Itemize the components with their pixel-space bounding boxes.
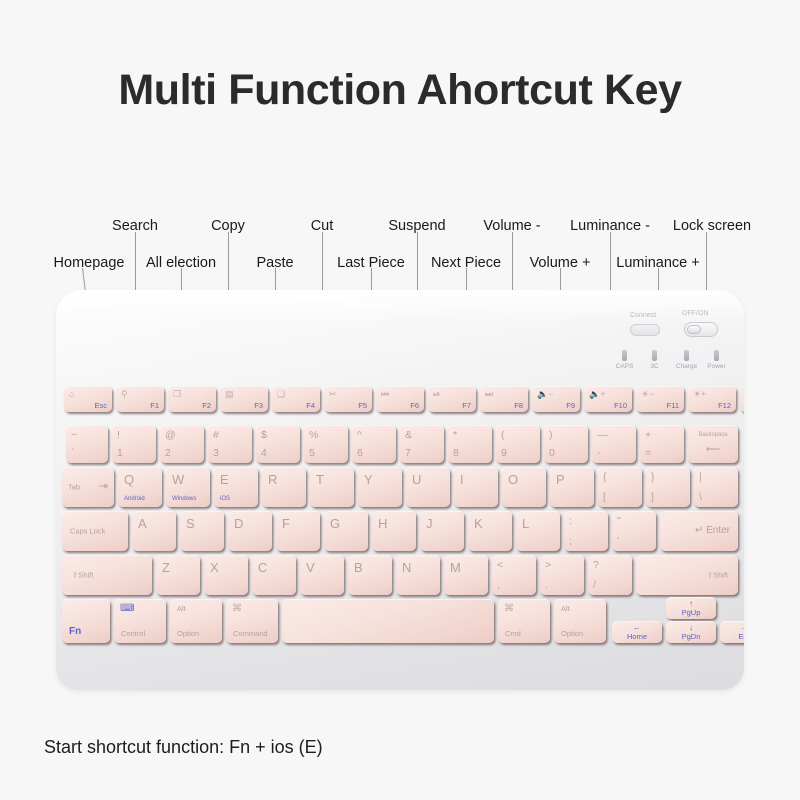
key-sublabel: Android [124,496,145,502]
key-shift-glyph: & [405,430,412,441]
status-led-label: Charge [676,363,697,370]
key-key-r[interactable]: R [262,467,306,507]
key-key-a[interactable]: A [132,511,176,551]
annotation-label: Homepage [54,255,125,271]
command-icon: ⌘ [504,604,514,614]
volume-down-icon: 🔈− [537,390,553,399]
key-command-l[interactable]: ⌘Command [226,599,278,643]
key-shift-glyph: | [699,472,702,483]
brightness-up-icon: ☀+ [693,390,706,399]
key-shift-glyph: * [453,430,457,441]
key-base-glyph: 0 [549,448,555,459]
key-letter: L [522,517,529,530]
key-shift-glyph: + [645,430,651,441]
key-key-j[interactable]: J [420,511,464,551]
key-alt-label: Alt [561,605,570,613]
key-alt-option-l[interactable]: AltOption [170,599,222,643]
search-icon: ⚲ [121,390,128,399]
key-base-glyph: , [497,580,500,591]
backspace-arrow-icon: ⟵ [688,445,738,455]
key-esc[interactable]: ⌂Esc [64,386,112,412]
key-letter: S [186,517,195,530]
key-period[interactable]: >. [540,555,584,595]
key-label: Backspace [688,432,738,438]
key-caps-lock[interactable]: Caps Lock [62,511,128,551]
key-key-k[interactable]: K [468,511,512,551]
key-letter: O [508,473,518,486]
play-pause-icon: ⏯ [433,390,440,399]
key-key-i[interactable]: I [454,467,498,507]
key-base-glyph: 9 [501,448,507,459]
key-key-t[interactable]: T [310,467,354,507]
key-arrow-pgdn[interactable]: ↓PgDn [666,621,716,643]
key-shift-glyph: } [651,472,655,483]
key-sublabel: iOS [220,496,230,502]
key-letter: V [306,561,315,574]
key-label: Option [561,630,583,638]
key-letter: T [316,473,324,486]
status-led [652,350,657,361]
key-alt-option-r[interactable]: AltOption [554,599,606,643]
key-backtick[interactable]: ~` [66,425,108,463]
key-shift-glyph: : [569,516,572,527]
key-letter: Q [124,473,134,486]
key-letter: D [234,517,243,530]
key-base-glyph: . [545,580,548,591]
key-digit-7[interactable]: &7 [400,425,444,463]
key-letter: U [412,473,421,486]
key-key-m[interactable]: M [444,555,488,595]
key-label: Fn [69,627,81,637]
key-key-c[interactable]: C [252,555,296,595]
key-key-s[interactable]: S [180,511,224,551]
key-letter: C [258,561,267,574]
key-tab[interactable]: Tab⇥ [62,467,114,507]
key-digit-6[interactable]: ^6 [352,425,396,463]
key-enter[interactable]: ↵ Enter [660,511,738,551]
key-f3[interactable]: ▤F3 [220,386,268,412]
key-letter: W [172,473,184,486]
key-key-v[interactable]: V [300,555,344,595]
connect-button[interactable] [630,324,660,336]
key-base-glyph: / [593,580,596,591]
key-base-glyph: 1 [117,448,123,459]
key-letter: E [220,473,229,486]
key-digit-0[interactable]: )0 [544,425,588,463]
status-led-label: CAPS [616,363,634,370]
command-icon: ⌘ [232,604,242,614]
key-key-g[interactable]: G [324,511,368,551]
key-shift-glyph: ? [593,560,599,571]
key-shift-glyph: ) [549,430,553,441]
status-led [622,350,627,361]
key-fn-label: F8 [514,402,523,410]
key-digit-5[interactable]: %5 [304,425,348,463]
brightness-down-icon: ☀− [641,390,654,399]
tab-arrow-icon: ⇥ [99,482,108,493]
key-semicolon[interactable]: :; [564,511,608,551]
key-fn-label: F10 [614,402,627,410]
key-label: Command [233,630,268,638]
key-key-y[interactable]: Y [358,467,402,507]
volume-up-icon: 🔈+ [589,390,605,399]
scissors-icon: ✂ [329,390,337,399]
arrow-pgdn-arrow-icon: ↓ [666,624,716,632]
key-base-glyph: - [597,448,601,459]
key-key-x[interactable]: X [204,555,248,595]
key-f9[interactable]: 🔈−F9 [532,386,580,412]
key-control[interactable]: ⌨Control [114,599,166,643]
key-fn-label: Delete [740,402,744,410]
key-f7[interactable]: ⏯F7 [428,386,476,412]
key-base-glyph: 3 [213,448,219,459]
key-base-glyph: 6 [357,448,363,459]
key-fn-label: F5 [358,402,367,410]
status-led-label: 3C [650,363,658,370]
status-led-label: Power [707,363,725,370]
key-letter: X [210,561,219,574]
home-icon: ⌂ [69,390,74,399]
key-shift-glyph: — [597,430,608,441]
arrow-end-arrow-icon: → [720,624,744,632]
onoff-label: OFF/ON [682,310,708,317]
key-key-h[interactable]: H [372,511,416,551]
connect-label: Connect [630,312,656,319]
key-letter: J [426,517,433,530]
key-bracket-r[interactable]: }] [646,467,690,507]
key-fn-label: Esc [94,402,107,410]
key-fn-label: F12 [718,402,731,410]
key-f6[interactable]: ⏮F6 [376,386,424,412]
key-shift-glyph: { [603,472,607,483]
key-label: Tab [68,483,80,491]
key-letter: Y [364,473,373,486]
page-title: Multi Function Ahortcut Key [0,66,800,115]
key-f4[interactable]: ❑F4 [272,386,320,412]
keyboard-body: Connect OFF/ON CAPS3CChargePower ⌂Esc⚲F1… [56,290,744,690]
key-label: Home [612,633,662,641]
key-alt-label: Alt [177,605,186,613]
key-letter: N [402,561,411,574]
key-shift-glyph: ^ [357,430,362,441]
key-base-glyph: ' [617,536,619,547]
key-digit-1[interactable]: !1 [112,425,156,463]
key-label: End [720,633,744,641]
key-base-glyph: [ [603,492,606,503]
key-label: Control [121,630,145,638]
key-key-p[interactable]: P [550,467,594,507]
key-backspace[interactable]: Backspace⟵ [688,425,738,463]
power-switch[interactable] [684,322,718,337]
key-comma[interactable]: <, [492,555,536,595]
key-fn-label: F6 [410,402,419,410]
key-key-f[interactable]: F [276,511,320,551]
key-letter: A [138,517,147,530]
key-digit-3[interactable]: #3 [208,425,252,463]
key-base-glyph: ; [569,536,572,547]
key-base-glyph: 2 [165,448,171,459]
key-digit-2[interactable]: @2 [160,425,204,463]
key-f2[interactable]: ❐F2 [168,386,216,412]
lock-icon: 🔒 [740,390,744,399]
key-shift-glyph: < [497,560,503,571]
top-controls: Connect OFF/ON CAPS3CChargePower [612,304,732,380]
copy-icon: ❐ [173,390,181,399]
key-key-b[interactable]: B [348,555,392,595]
key-shift-glyph: " [617,516,621,527]
arrow-pgup-arrow-icon: ↑ [666,600,716,608]
key-shift-left[interactable]: ⇧Shift [62,555,152,595]
annotation-label: Lock screen [673,218,751,234]
key-fn[interactable]: Fn [62,599,110,643]
key-sublabel: Windows [172,496,196,502]
key-base-glyph: ` [71,448,75,459]
key-base-glyph: ] [651,492,654,503]
switch-knob [687,325,701,334]
key-base-glyph: \ [699,492,702,503]
key-f10[interactable]: 🔈+F10 [584,386,632,412]
key-key-u[interactable]: U [406,467,450,507]
key-letter: K [474,517,483,530]
key-fn-label: F4 [306,402,315,410]
key-minus[interactable]: —- [592,425,636,463]
key-key-o[interactable]: O [502,467,546,507]
key-fn-label: F11 [667,402,679,410]
key-key-e[interactable]: EiOS [214,467,258,507]
key-arrow-home[interactable]: ←Home [612,621,662,643]
next-track-icon: ⏭ [485,390,493,399]
key-letter: R [268,473,277,486]
key-command-r[interactable]: ⌘Cmd [498,599,550,643]
paste-icon: ▤ [225,390,234,399]
select-all-icon: ❑ [277,390,285,399]
key-fn-label: F9 [566,402,575,410]
page-caption: Start shortcut function: Fn + ios (E) [44,737,323,758]
key-shift-glyph: > [545,560,551,571]
key-base-glyph: 5 [309,448,315,459]
status-led [714,350,719,361]
key-letter: I [460,473,464,486]
key-f8[interactable]: ⏭F8 [480,386,528,412]
key-letter: H [378,517,387,530]
key-base-glyph: 4 [261,448,267,459]
key-base-glyph: = [645,448,651,459]
key-digit-4[interactable]: $4 [256,425,300,463]
key-label: ↵ Enter [695,526,730,536]
key-letter: M [450,561,461,574]
key-key-l[interactable]: L [516,511,560,551]
key-fn-label: F2 [202,402,211,410]
key-shift-right[interactable]: ⇧Shift [636,555,738,595]
key-shift-glyph: ! [117,430,120,441]
key-key-q[interactable]: QAndroid [118,467,162,507]
key-letter: B [354,561,363,574]
key-label: PgDn [666,633,716,641]
key-backslash[interactable]: |\ [694,467,738,507]
key-label: Caps Lock [70,527,105,535]
key-shift-glyph: @ [165,430,176,441]
key-f12[interactable]: ☀+F12 [688,386,736,412]
key-fn-label: F3 [254,402,263,410]
key-key-z[interactable]: Z [156,555,200,595]
key-shift-glyph: % [309,430,318,441]
key-fn-label: F7 [462,402,471,410]
key-quote[interactable]: "' [612,511,656,551]
key-space[interactable] [282,599,494,643]
key-label: PgUp [666,609,716,617]
key-shift-glyph: $ [261,430,267,441]
key-shift-glyph: ( [501,430,505,441]
key-bracket-l[interactable]: {[ [598,467,642,507]
key-f1[interactable]: ⚲F1 [116,386,164,412]
key-label: Option [177,630,199,638]
key-fn-label: F1 [150,402,159,410]
keyboard-icon: ⌨ [120,604,134,614]
key-key-w[interactable]: WWindows [166,467,210,507]
status-led [684,350,689,361]
key-label: ⇧Shift [72,571,93,579]
key-letter: P [556,473,565,486]
page-root: Multi Function Ahortcut Key SearchCopyCu… [0,0,800,800]
key-label: Cmd [505,630,521,638]
key-base-glyph: 8 [453,448,459,459]
key-slash[interactable]: ?/ [588,555,632,595]
key-digit-8[interactable]: *8 [448,425,492,463]
key-base-glyph: 7 [405,448,411,459]
key-letter: Z [162,561,170,574]
key-key-n[interactable]: N [396,555,440,595]
key-letter: G [330,517,340,530]
key-letter: F [282,517,290,530]
key-arrow-pgup[interactable]: ↑PgUp [666,597,716,619]
key-shift-glyph: ~ [71,430,77,441]
key-arrow-end[interactable]: →End [720,621,744,643]
key-equals[interactable]: += [640,425,684,463]
key-shift-glyph: # [213,430,219,441]
key-key-d[interactable]: D [228,511,272,551]
key-label: ⇧Shift [707,571,728,579]
prev-track-icon: ⏮ [381,390,389,399]
key-f11[interactable]: ☀−F11 [636,386,684,412]
key-digit-9[interactable]: (9 [496,425,540,463]
key-delete[interactable]: 🔒Delete [740,386,744,412]
key-f5[interactable]: ✂F5 [324,386,372,412]
arrow-home-arrow-icon: ← [612,624,662,632]
